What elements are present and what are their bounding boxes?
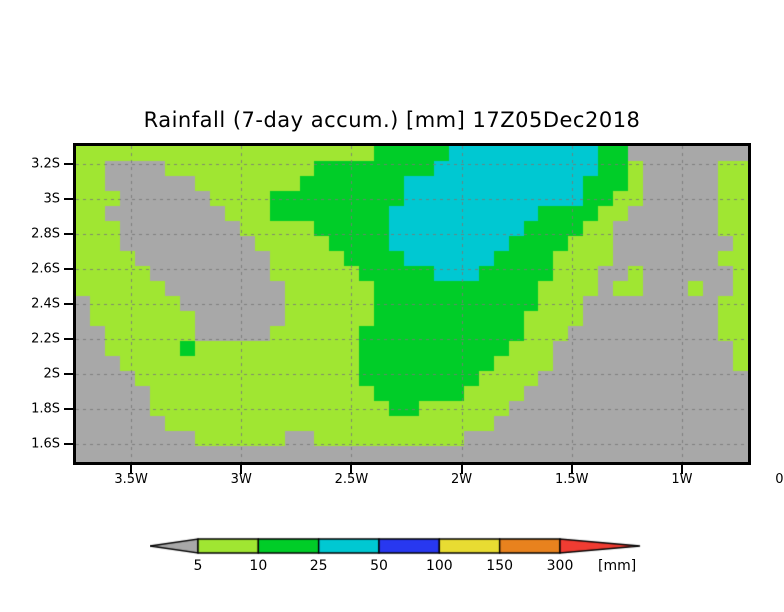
y-axis-tick-mark: [64, 408, 73, 410]
x-axis-tick-label: 3W: [231, 472, 252, 487]
y-axis-tick-label: 1.6S: [0, 437, 60, 452]
y-axis-tick-mark: [64, 338, 73, 340]
x-axis-tick-mark: [571, 465, 573, 474]
x-axis-tick-mark: [240, 465, 242, 474]
colorbar-tick-label: 5: [194, 558, 203, 574]
colorbar-tick-label: 150: [486, 558, 513, 574]
y-axis-tick-label: 2S: [0, 367, 60, 382]
y-axis-tick-labels: 1.6S1.8S2S2.2S2.4S2.6S2.8S3S3.2S: [0, 0, 60, 612]
colorbar-tick-label: 100: [426, 558, 453, 574]
y-axis-tick-mark: [64, 268, 73, 270]
y-axis-tick-mark: [64, 233, 73, 235]
x-axis-tick-mark: [130, 465, 132, 474]
y-axis-tick-mark: [64, 443, 73, 445]
colorbar-canvas: [150, 533, 650, 559]
x-axis-tick-label: 0.5W: [775, 472, 784, 487]
x-axis-tick-label: 3.5W: [114, 472, 148, 487]
colorbar-tick-label: 50: [370, 558, 388, 574]
colorbar-tick-label: 300: [547, 558, 574, 574]
colorbar-tick-label: 10: [249, 558, 267, 574]
y-axis-tick-label: 3S: [0, 191, 60, 206]
colorbar-tick-label: 25: [310, 558, 328, 574]
page-title: Rainfall (7-day accum.) [mm] 17Z05Dec201…: [0, 108, 784, 132]
heatmap-plot-area: [73, 143, 751, 465]
colorbar: [mm] 5102550100150300: [0, 525, 784, 585]
x-axis-tick-label: 1.5W: [555, 472, 589, 487]
x-axis-tick-label: 1W: [671, 472, 692, 487]
y-axis-tick-label: 2.6S: [0, 261, 60, 276]
x-axis-tick-mark: [350, 465, 352, 474]
y-axis-tick-mark: [64, 198, 73, 200]
x-axis-tick-mark: [461, 465, 463, 474]
x-axis-tick-mark: [681, 465, 683, 474]
x-axis-tick-label: 2.5W: [335, 472, 369, 487]
y-axis-tick-mark: [64, 303, 73, 305]
y-axis-tick-label: 2.4S: [0, 297, 60, 312]
y-axis-tick-mark: [64, 163, 73, 165]
y-axis-tick-label: 1.8S: [0, 402, 60, 417]
y-axis-tick-mark: [64, 373, 73, 375]
y-axis-tick-label: 2.8S: [0, 226, 60, 241]
rainfall-heatmap-canvas: [76, 146, 748, 462]
colorbar-unit-label: [mm]: [598, 558, 636, 574]
x-axis-tick-label: 2W: [451, 472, 472, 487]
y-axis-tick-label: 2.2S: [0, 332, 60, 347]
y-axis-tick-label: 3.2S: [0, 156, 60, 171]
